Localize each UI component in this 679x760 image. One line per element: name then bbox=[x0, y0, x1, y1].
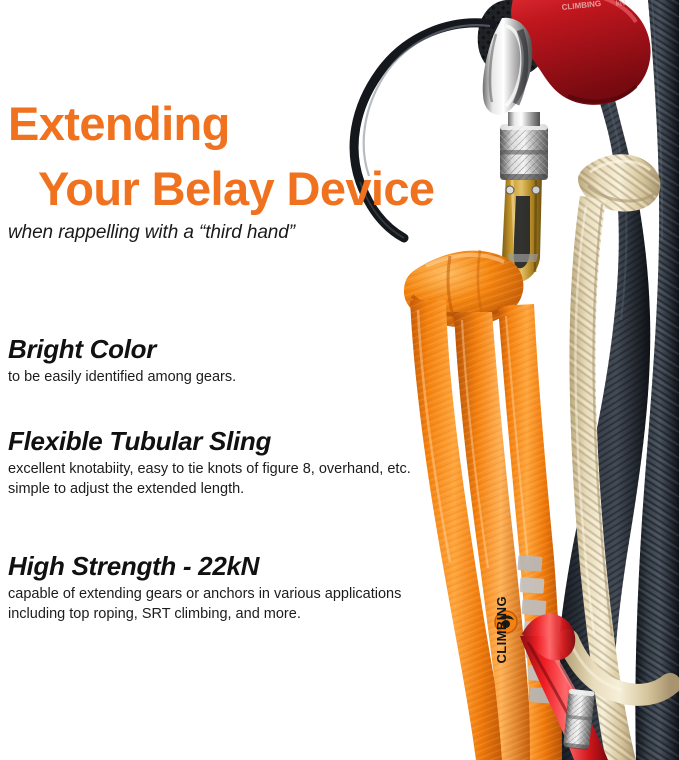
feature-high-strength: High Strength - 22kN capable of extendin… bbox=[8, 553, 401, 624]
feature-body: excellent knotabiity, easy to tie knots … bbox=[8, 459, 411, 499]
sling-wordmark: CLIMBING bbox=[494, 596, 509, 663]
svg-text:kN: kN bbox=[615, 0, 625, 8]
feature-body-line: capable of extending gears or anchors in… bbox=[8, 584, 401, 604]
feature-body-line: including top roping, SRT climbing, and … bbox=[8, 604, 401, 624]
feature-body: capable of extending gears or anchors in… bbox=[8, 584, 401, 624]
feature-title: Bright Color bbox=[8, 336, 236, 363]
headline-line-2: Your Belay Device bbox=[38, 165, 434, 212]
subtitle: when rappelling with a “third hand” bbox=[8, 222, 295, 244]
feature-body: to be easily identified among gears. bbox=[8, 367, 236, 387]
feature-flexible-tubular-sling: Flexible Tubular Sling excellent knotabi… bbox=[8, 428, 411, 499]
feature-body-line: to be easily identified among gears. bbox=[8, 367, 236, 387]
headline-line-1: Extending bbox=[8, 100, 230, 147]
feature-body-line: excellent knotabiity, easy to tie knots … bbox=[8, 459, 411, 479]
feature-title: Flexible Tubular Sling bbox=[8, 428, 411, 455]
feature-title: High Strength - 22kN bbox=[8, 553, 401, 580]
copy-layer: Extending Your Belay Device when rappell… bbox=[0, 0, 470, 760]
feature-body-line: simple to adjust the extended length. bbox=[8, 479, 411, 499]
feature-bright-color: Bright Color to be easily identified amo… bbox=[8, 336, 236, 387]
